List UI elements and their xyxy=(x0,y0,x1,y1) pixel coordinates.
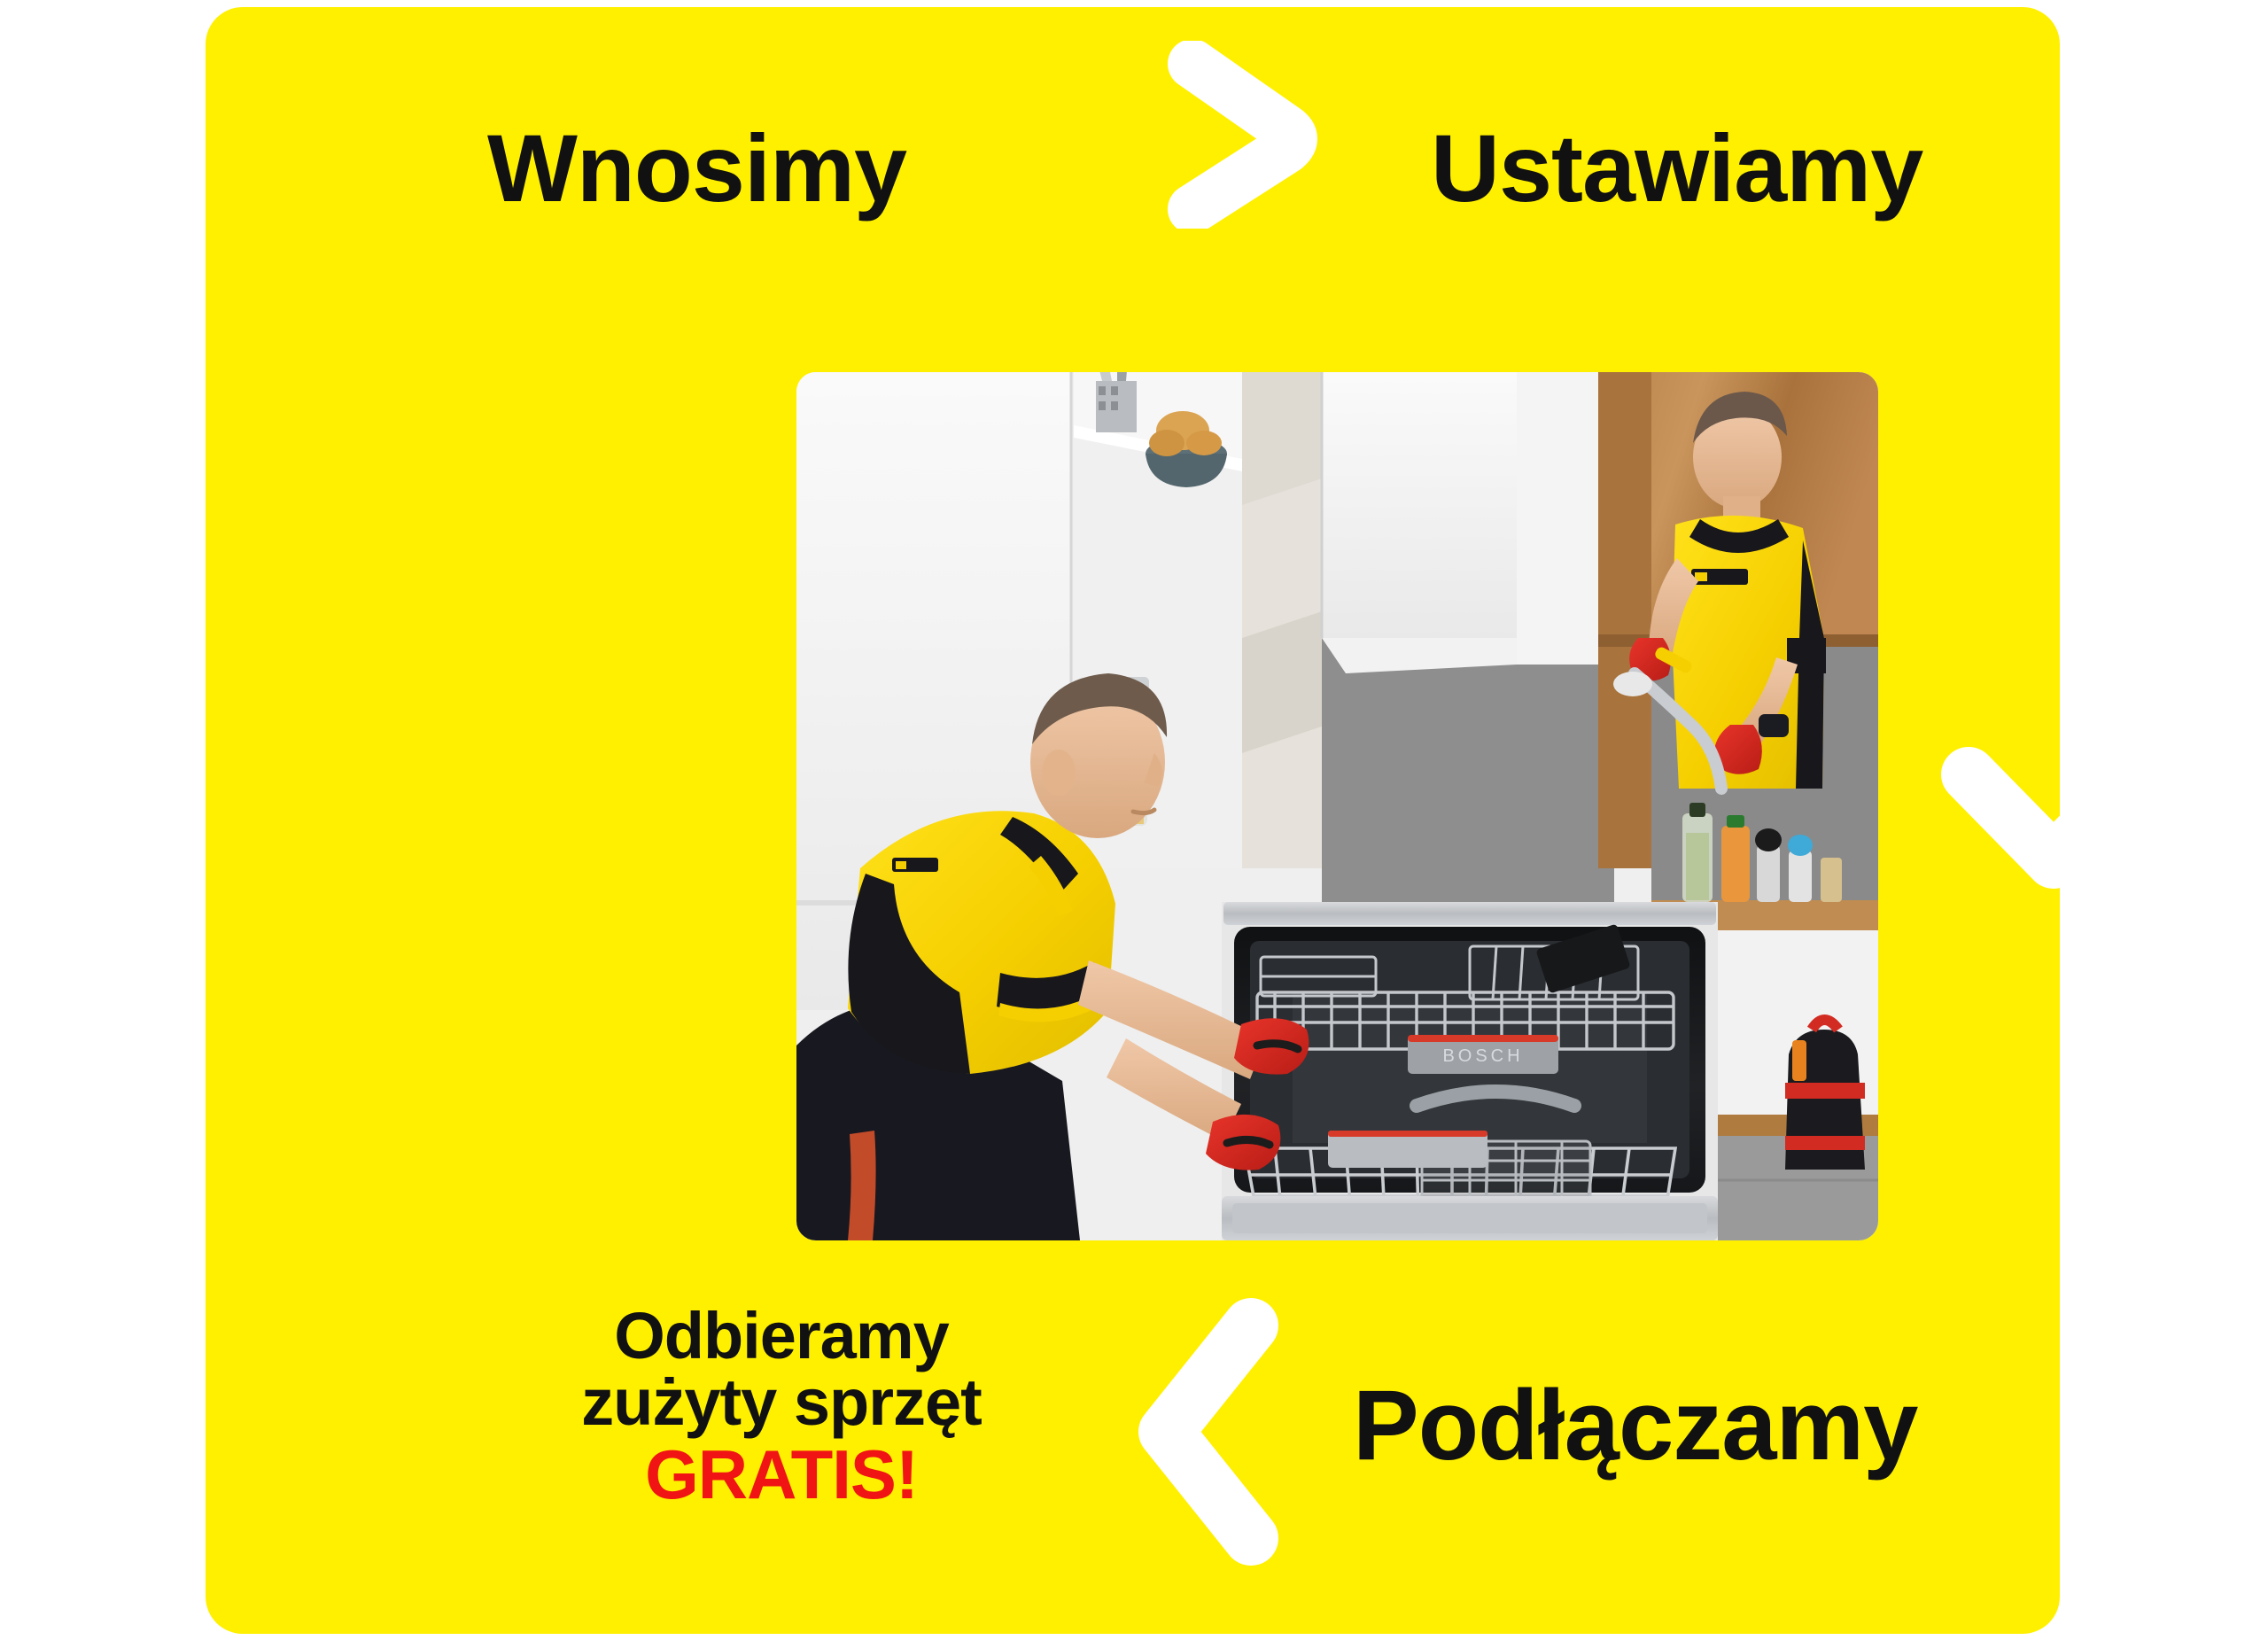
headline-step-podlaczamy: Podłączamy xyxy=(1353,1376,1917,1475)
headline-step-wnosimy: Wnosimy xyxy=(487,120,906,216)
promo-banner: Wnosimy Ustawiamy Odbieramy zużyty sprzę… xyxy=(0,0,2268,1648)
pickup-line-2: zużyty sprzęt xyxy=(471,1369,1091,1435)
chevron-left-icon xyxy=(1118,1290,1292,1574)
chevron-down-icon xyxy=(1938,742,2169,907)
headline-step-ustawiamy: Ustawiamy xyxy=(1431,120,1922,216)
yellow-promo-card: Wnosimy Ustawiamy Odbieramy zużyty sprzę… xyxy=(206,7,2060,1634)
installation-photo: BOSCH xyxy=(796,372,1878,1240)
chevron-right-icon xyxy=(1152,41,1329,229)
pickup-line-gratis: GRATIS! xyxy=(471,1440,1091,1511)
svg-text:BOSCH: BOSCH xyxy=(1442,1046,1523,1066)
pickup-line-1: Odbieramy xyxy=(471,1302,1091,1369)
pickup-offer-block: Odbieramy zużyty sprzęt GRATIS! xyxy=(471,1302,1091,1510)
